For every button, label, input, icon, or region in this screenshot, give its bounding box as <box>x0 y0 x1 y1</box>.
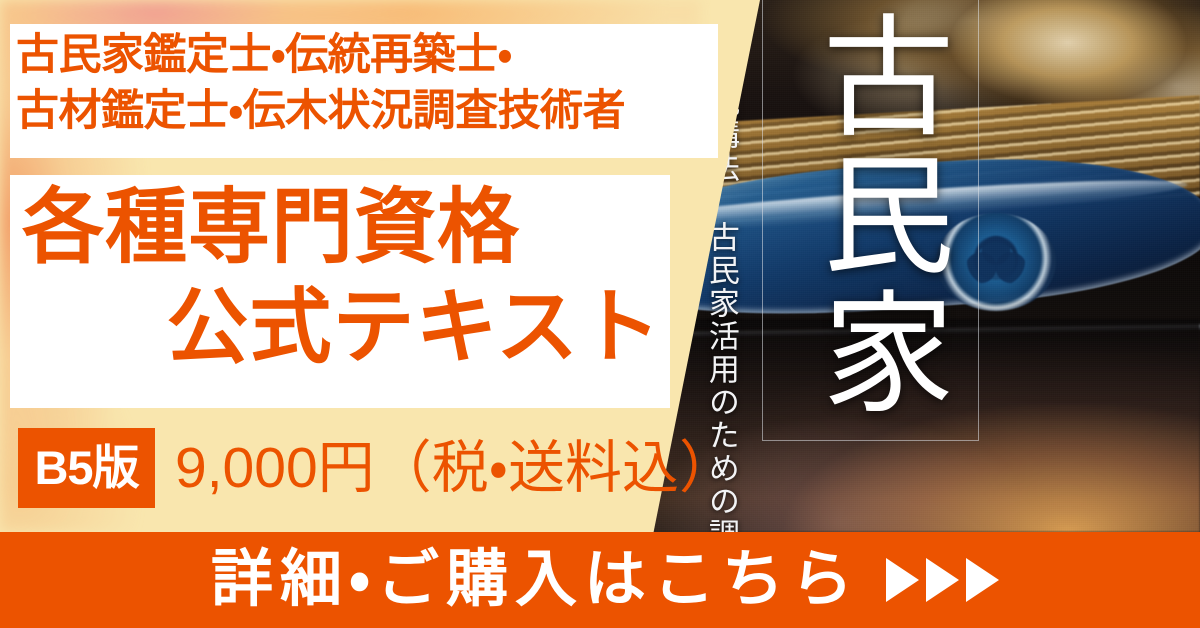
format-badge-b5: B5版 <box>18 428 155 508</box>
headline-line-2: 公式テキスト <box>0 278 676 378</box>
qualifications-line-1: 古民家鑑定士・伝統再築士・ <box>16 28 716 84</box>
cta-arrows <box>886 558 999 602</box>
book-cover-title: 古民家 <box>780 8 950 422</box>
qualifications-line-2: 古材鑑定士・伝木状況調査技術者 <box>16 84 716 140</box>
main-headline: 各種専門資格 公式テキスト <box>0 178 676 378</box>
promo-banner: 伝統構法 古民家活用のための調査と再生の 古民家 古民家鑑定士・伝統再築士・ 古… <box>0 0 1200 628</box>
cta-label: 詳細・ご購入はこちら <box>211 549 860 611</box>
headline-line-1: 各種専門資格 <box>0 178 676 278</box>
play-arrow-icon <box>966 558 999 602</box>
play-arrow-icon <box>886 558 919 602</box>
qualifications-text: 古民家鑑定士・伝統再築士・ 古材鑑定士・伝木状況調査技術者 <box>16 28 716 140</box>
cta-bar[interactable]: 詳細・ご購入はこちら <box>0 532 1200 628</box>
play-arrow-icon <box>926 558 959 602</box>
price-text: 9,000円（税・送料込） <box>175 428 736 508</box>
